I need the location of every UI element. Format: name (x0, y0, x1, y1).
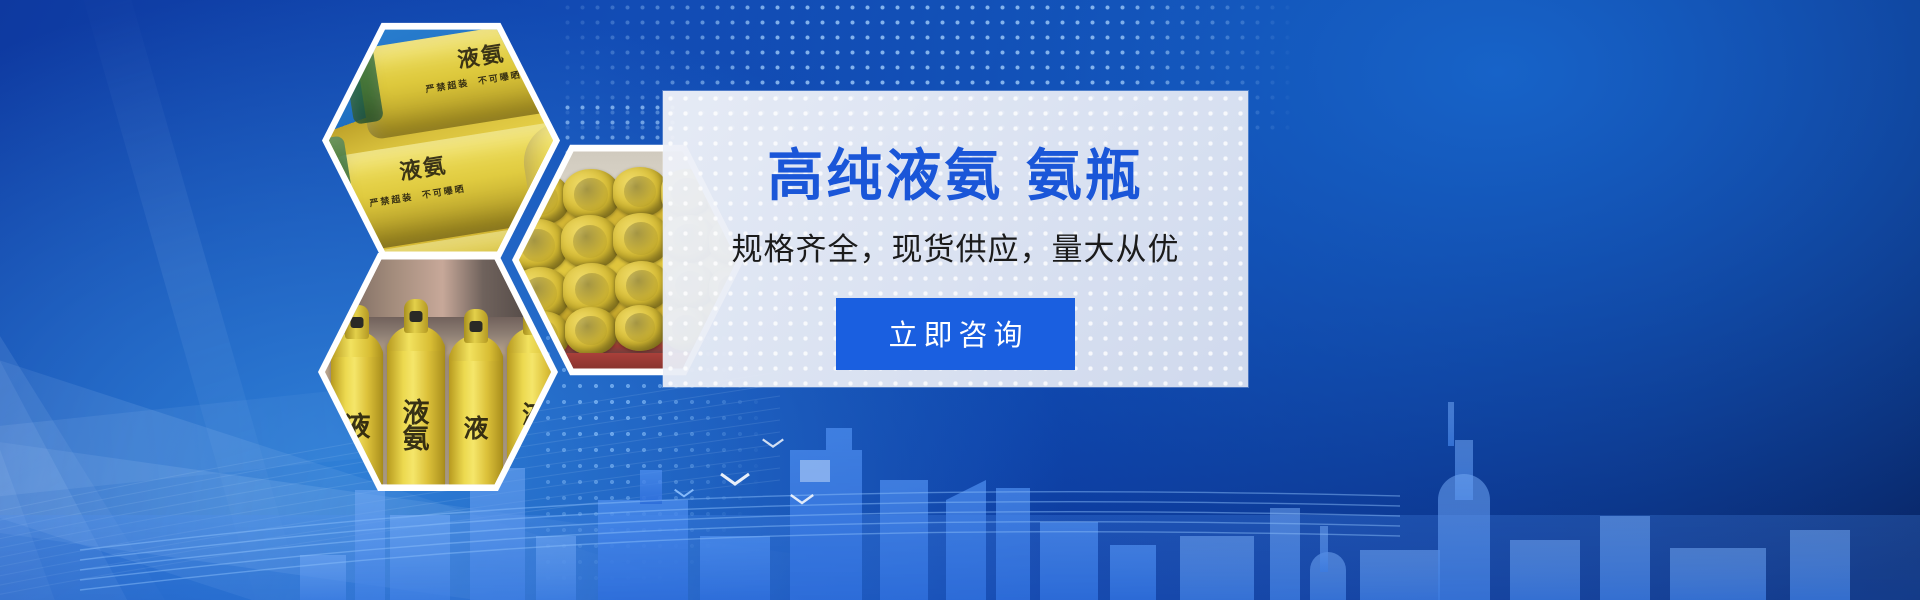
lying-ammonia-cylinders-photo: 液氨 严禁超装 不可曝晒 液氨 严禁超装 不可曝晒 (329, 25, 553, 256)
bird-icon (674, 486, 694, 500)
subtitle: 规格齐全，现货供应，量大从优 (663, 235, 1248, 266)
content-panel: 高纯液氨 氨瓶 规格齐全，现货供应，量大从优 立即咨询 (663, 91, 1248, 387)
hero-banner: 液氨 严禁超装 不可曝晒 液氨 严禁超装 不可曝晒 (0, 0, 1920, 600)
bird-icon (790, 492, 814, 506)
photo-hexagon-lying-cylinders: 液氨 严禁超装 不可曝晒 液氨 严禁超装 不可曝晒 (322, 18, 560, 263)
consult-now-button[interactable]: 立即咨询 (836, 298, 1074, 370)
bird-icon (762, 436, 784, 450)
bird-icon (720, 472, 750, 486)
page-title: 高纯液氨 氨瓶 (663, 149, 1248, 205)
